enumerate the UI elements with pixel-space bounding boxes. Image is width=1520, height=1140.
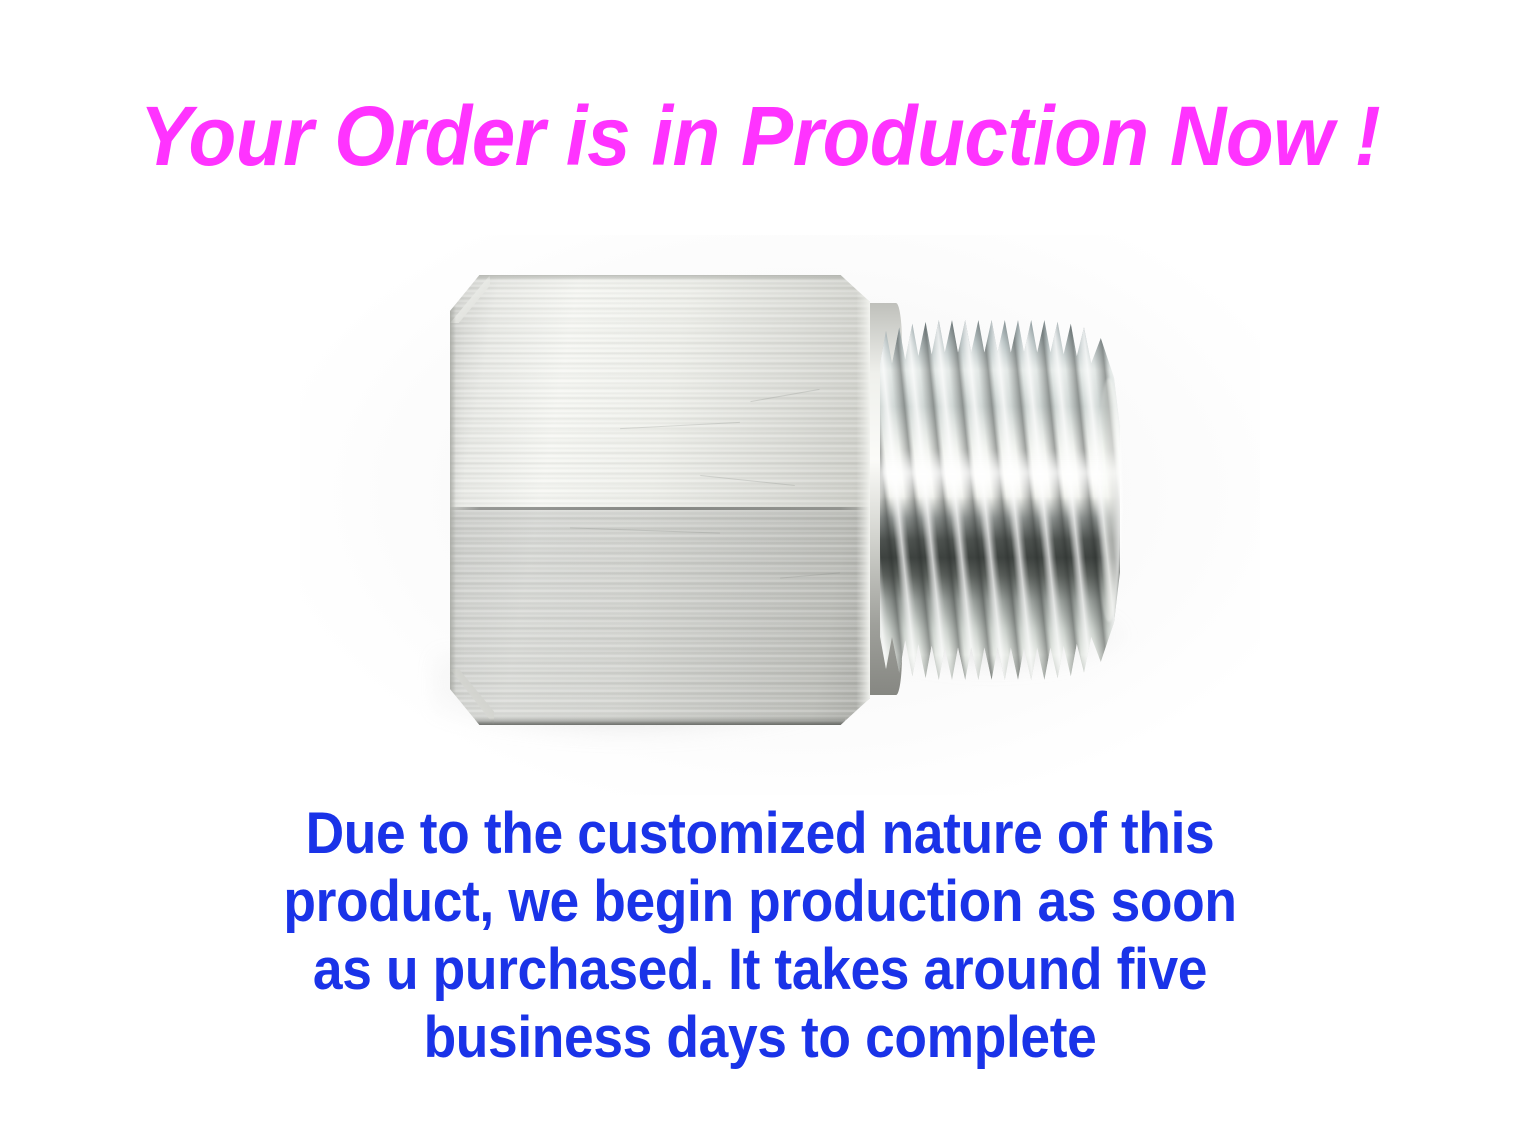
promo-image-canvas: Your Order is in Production Now !	[0, 0, 1520, 1140]
notice-line-2: product, we begin production as soon	[61, 868, 1459, 936]
notice-line-4: business days to complete	[61, 1004, 1459, 1072]
hex-edge-bottom	[475, 718, 845, 725]
brushed-texture-secondary	[450, 275, 870, 725]
hex-face-parting-line	[450, 507, 870, 510]
notice-line-1: Due to the customized nature of this	[61, 800, 1459, 868]
thread-end-rim	[1096, 378, 1122, 623]
hex-edge-top	[475, 275, 845, 280]
product-photo	[0, 215, 1520, 795]
hex-nut-body	[450, 275, 870, 725]
hex-edge-right	[856, 289, 870, 712]
page-title: Your Order is in Production Now !	[53, 88, 1467, 184]
thread-ridges	[880, 320, 1120, 680]
threaded-male-end	[880, 320, 1120, 680]
hex-edge-left	[450, 293, 456, 707]
production-notice: Due to the customized nature of this pro…	[61, 800, 1459, 1072]
notice-line-3: as u purchased. It takes around five	[61, 936, 1459, 1004]
thread-barrel	[880, 320, 1120, 680]
